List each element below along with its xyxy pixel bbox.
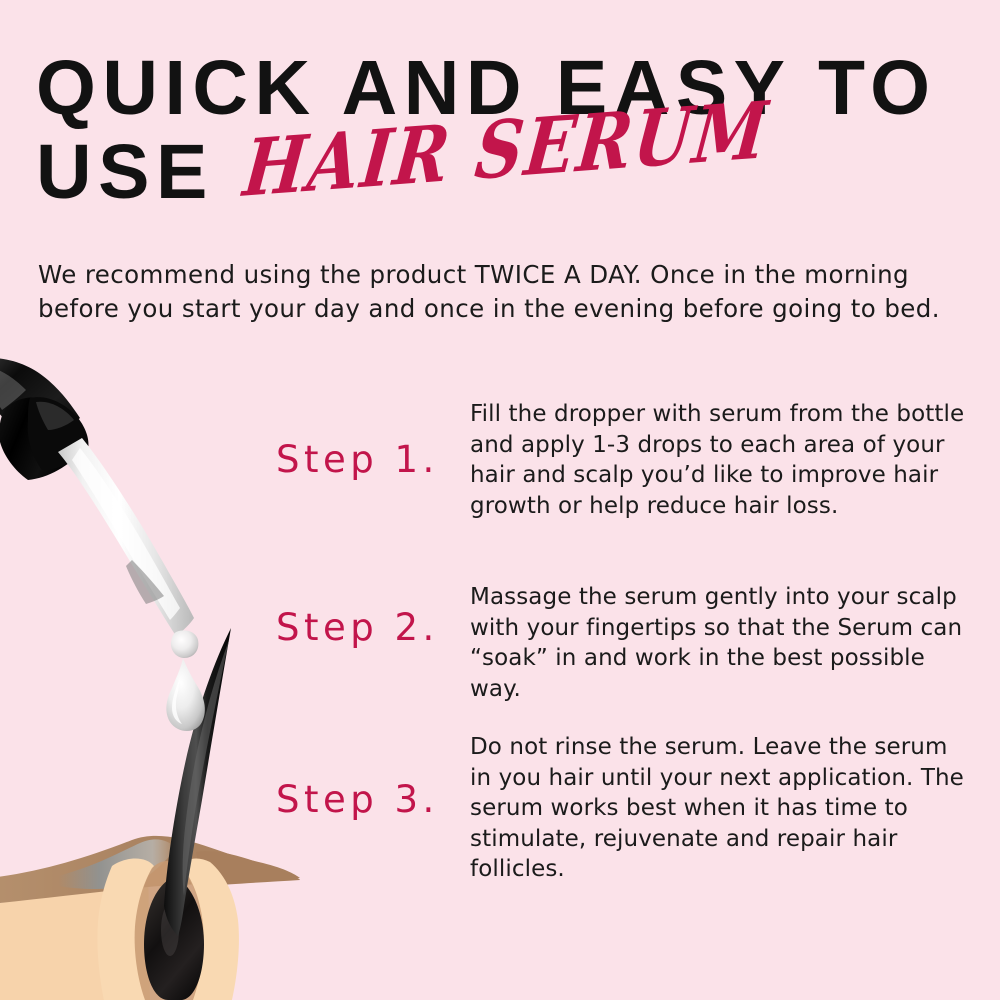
step-1-text: Fill the dropper with serum from the bot…	[470, 399, 972, 521]
headline-line-2-plain: USE	[36, 130, 214, 214]
step-2-label: Step 2.	[276, 608, 466, 648]
hair-shaft	[164, 628, 231, 936]
poster-canvas: QUICK AND EASY TO USE HAIR SERUM We reco…	[0, 0, 1000, 1000]
headline-line-2: USE HAIR SERUM	[36, 130, 966, 214]
step-3-text: Do not rinse the serum. Leave the serum …	[470, 732, 972, 885]
headline: QUICK AND EASY TO USE HAIR SERUM	[36, 46, 966, 214]
step-2-text: Massage the serum gently into your scalp…	[470, 582, 972, 704]
step-3-label: Step 3.	[276, 780, 466, 820]
dropper-illustration	[0, 358, 205, 731]
follicle-illustration	[0, 836, 300, 1000]
step-1-label: Step 1.	[276, 440, 466, 480]
subtitle-text: We recommend using the product TWICE A D…	[38, 258, 968, 326]
